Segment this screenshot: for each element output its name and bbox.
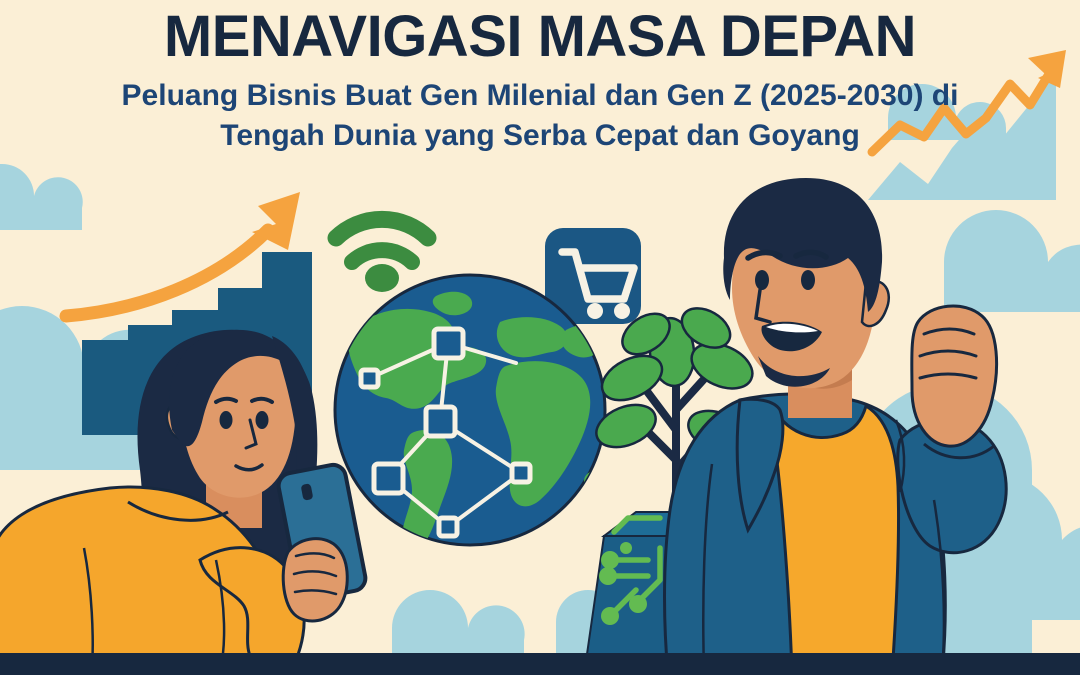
desk-surface [0, 0, 1080, 675]
poster-canvas: MENAVIGASI MASA DEPAN Peluang Bisnis Bua… [0, 0, 1080, 675]
